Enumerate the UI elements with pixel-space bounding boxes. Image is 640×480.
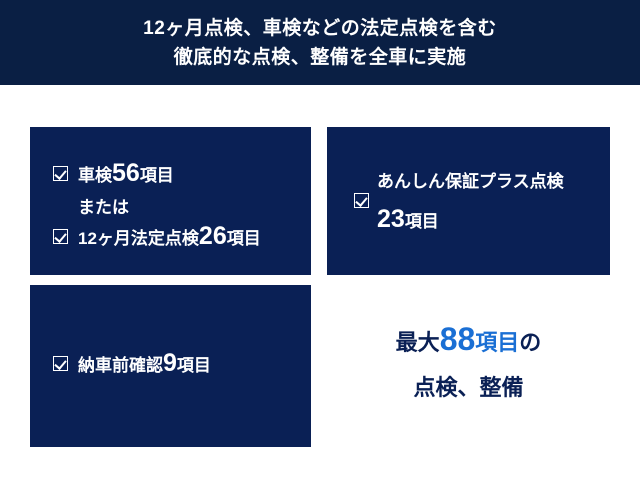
panel-inspection: 車検56項目 または 12ヶ月法定点検26項目 bbox=[30, 127, 311, 275]
summary-block: 最大88項目の 点検、整備 bbox=[327, 320, 610, 402]
summary-line-1: 最大88項目の bbox=[327, 320, 610, 358]
header-banner: 12ヶ月点検、車検などの法定点検を含む 徹底的な点検、整備を全車に実施 bbox=[0, 0, 640, 85]
checkbox-checked-icon bbox=[354, 193, 369, 208]
warranty-line-1: あんしん保証プラス点検 bbox=[377, 173, 564, 192]
predelivery-row: 納車前確認9項目 bbox=[53, 350, 211, 378]
inspection-row-1-label: 車検56項目 bbox=[78, 160, 174, 188]
promo-page: 12ヶ月点検、車検などの法定点検を含む 徹底的な点検、整備を全車に実施 車検56… bbox=[0, 0, 640, 480]
header-line-1: 12ヶ月点検、車検などの法定点検を含む bbox=[143, 14, 497, 43]
inspection-row-2-label: 12ヶ月法定点検26項目 bbox=[78, 223, 261, 251]
inspection-or-label: または bbox=[78, 193, 129, 218]
inspection-row-2: 12ヶ月法定点検26項目 bbox=[53, 223, 261, 251]
inspection-row-1: 車検56項目 bbox=[53, 160, 174, 188]
summary-line-2: 点検、整備 bbox=[327, 370, 610, 402]
header-line-2: 徹底的な点検、整備を全車に実施 bbox=[174, 43, 467, 72]
warranty-text-block: あんしん保証プラス点検 23項目 bbox=[377, 173, 564, 233]
panel-predelivery: 納車前確認9項目 bbox=[30, 285, 311, 447]
warranty-line-2: 23項目 bbox=[377, 206, 564, 234]
panel-warranty: あんしん保証プラス点検 23項目 bbox=[327, 127, 610, 275]
predelivery-label: 納車前確認9項目 bbox=[78, 350, 211, 378]
checkbox-checked-icon bbox=[53, 356, 68, 371]
checkbox-checked-icon bbox=[53, 229, 68, 244]
checkbox-checked-icon bbox=[53, 166, 68, 181]
